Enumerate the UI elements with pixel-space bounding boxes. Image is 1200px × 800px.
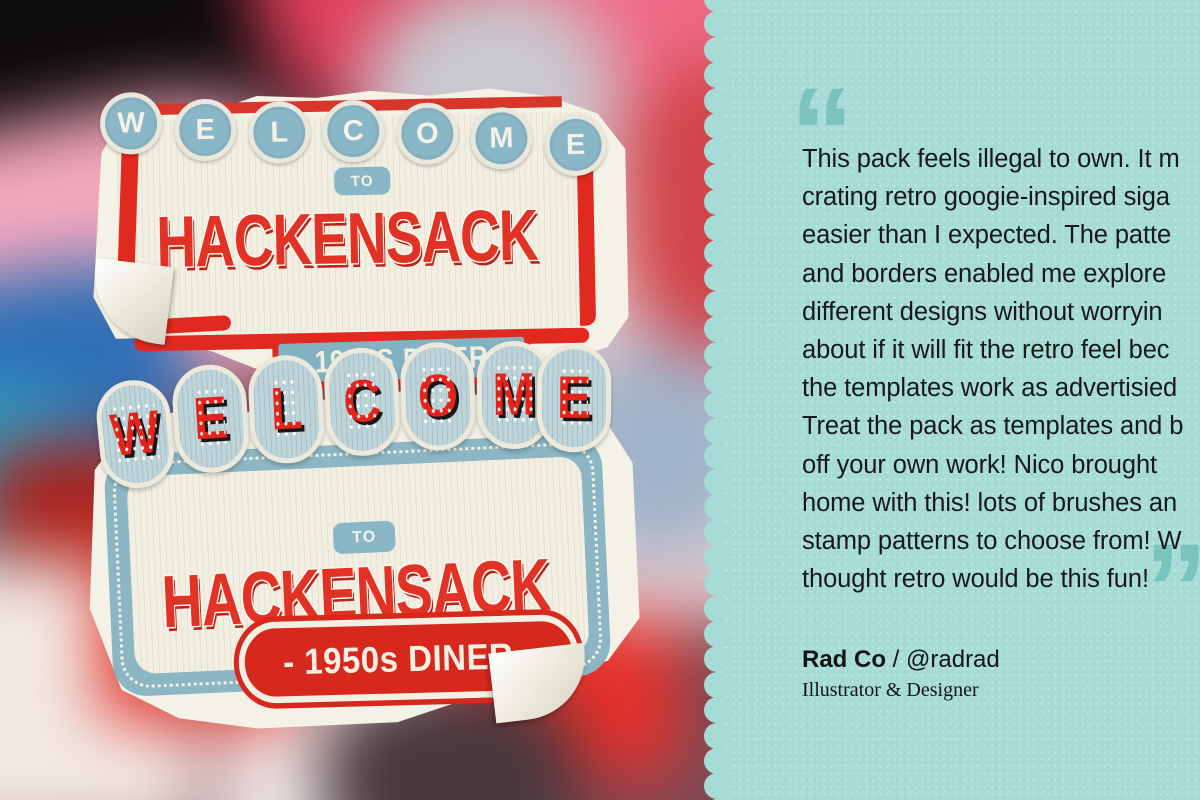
scallop-bump: [704, 697, 730, 723]
bulb-letter-1: E: [191, 383, 230, 454]
scallop-bump: [704, 596, 730, 622]
scallop-bump: [704, 189, 730, 215]
welcome-letter-6: E: [566, 128, 586, 161]
scallop-bump: [704, 418, 730, 444]
welcome-lozenge-3: C: [323, 346, 402, 457]
bulb-letter-0: W: [108, 397, 164, 470]
testimonial-quote: This pack feels illegal to own. It m cra…: [802, 140, 1200, 598]
scallop-bump: [704, 443, 730, 469]
scallop-bump: [704, 392, 730, 418]
quote-line: different designs without worryin: [802, 293, 1200, 331]
welcome-lozenge-4: O: [399, 341, 476, 451]
scallop-bump: [704, 570, 730, 596]
scallop-bump: [704, 0, 730, 12]
scallop-bump: [704, 138, 730, 164]
sign-sticker-top: W E L C O M E TO HACKENSACK 1950S DINER: [89, 65, 635, 375]
sign-sticker-bottom: W E L C O M E TO HACKENSACK - 1950s DINE…: [74, 369, 649, 739]
author-separator: /: [886, 646, 906, 673]
quote-line: easier than I expected. The patte: [802, 216, 1200, 254]
scallop-bump: [704, 773, 730, 799]
welcome-letter-4: O: [416, 117, 439, 150]
scallop-bump: [704, 748, 730, 774]
sticker-curl-corner-bottom: [488, 643, 591, 724]
scallop-bump: [704, 113, 730, 139]
scallop-bump: [704, 62, 730, 88]
city-name-top: HACKENSACK: [156, 192, 539, 284]
bulb-letter-5: M: [492, 360, 536, 429]
quote-line: stamp patterns to choose from! W: [802, 522, 1200, 560]
scallop-bump: [704, 11, 730, 37]
bulb-letter-2: L: [269, 374, 304, 444]
scallop-bump: [704, 37, 730, 63]
scallop-bump: [704, 672, 730, 698]
welcome-letter-3: C: [342, 114, 364, 147]
testimonial-author: Rad Co / @radrad Illustrator & Designer: [802, 645, 1000, 704]
scallop-bump: [704, 723, 730, 749]
scalloped-edge: [704, 0, 730, 800]
scallop-bump: [704, 367, 730, 393]
bulb-letter-4: O: [417, 361, 459, 431]
scallop-bump: [704, 291, 730, 317]
quote-line: This pack feels illegal to own. It m: [802, 140, 1200, 178]
welcome-letter-1: E: [195, 113, 215, 146]
bulb-letter-6: E: [557, 364, 592, 433]
quote-line: and borders enabled me explore: [802, 255, 1200, 293]
bulb-letter-3: C: [342, 367, 383, 438]
quote-text: This pack feels illegal to own. It m cra…: [802, 140, 1200, 598]
scallop-bump: [704, 621, 730, 647]
scallop-bump: [704, 316, 730, 342]
scallop-bump: [704, 240, 730, 266]
author-handle[interactable]: @radrad: [906, 646, 1000, 673]
scallop-bump: [704, 545, 730, 571]
product-preview-canvas: W E L C O M E TO HACKENSACK 1950S DINER …: [0, 0, 1200, 800]
welcome-lozenge-1: E: [170, 363, 251, 475]
scallop-bump: [704, 265, 730, 291]
author-role: Illustrator & Designer: [802, 677, 1000, 704]
scallop-bump: [704, 646, 730, 672]
welcome-letter-0: W: [117, 107, 145, 141]
scallop-bump: [704, 519, 730, 545]
quote-line: the templates work as advertisied: [802, 369, 1200, 407]
author-name: Rad Co: [802, 646, 886, 673]
quote-line: crating retro googie-inspired siga: [802, 178, 1200, 216]
quote-line: about if it will fit the retro feel bec: [802, 331, 1200, 369]
welcome-letter-5: M: [489, 122, 514, 155]
to-pill-top: TO: [334, 166, 391, 195]
scallop-bump: [704, 164, 730, 190]
quote-line: home with this! lots of brushes an: [802, 484, 1200, 522]
scallop-bump: [704, 494, 730, 520]
welcome-lozenge-6: E: [537, 344, 612, 453]
scallop-bump: [704, 469, 730, 495]
author-identity: Rad Co / @radrad: [802, 645, 1000, 675]
sticker-curl-corner-top: [87, 258, 174, 345]
scallop-bump: [704, 88, 730, 114]
quote-line: thought retro would be this fun!: [802, 560, 1200, 598]
welcome-letter-2: L: [270, 116, 288, 149]
quote-line: off your own work! Nico brought: [802, 446, 1200, 484]
welcome-lozenge-2: L: [247, 354, 326, 465]
scallop-bump: [704, 215, 730, 241]
scallop-bump: [704, 342, 730, 368]
testimonial-panel: “ ” This pack feels illegal to own. It m…: [716, 0, 1200, 800]
quote-line: Treat the pack as templates and b: [802, 407, 1200, 445]
